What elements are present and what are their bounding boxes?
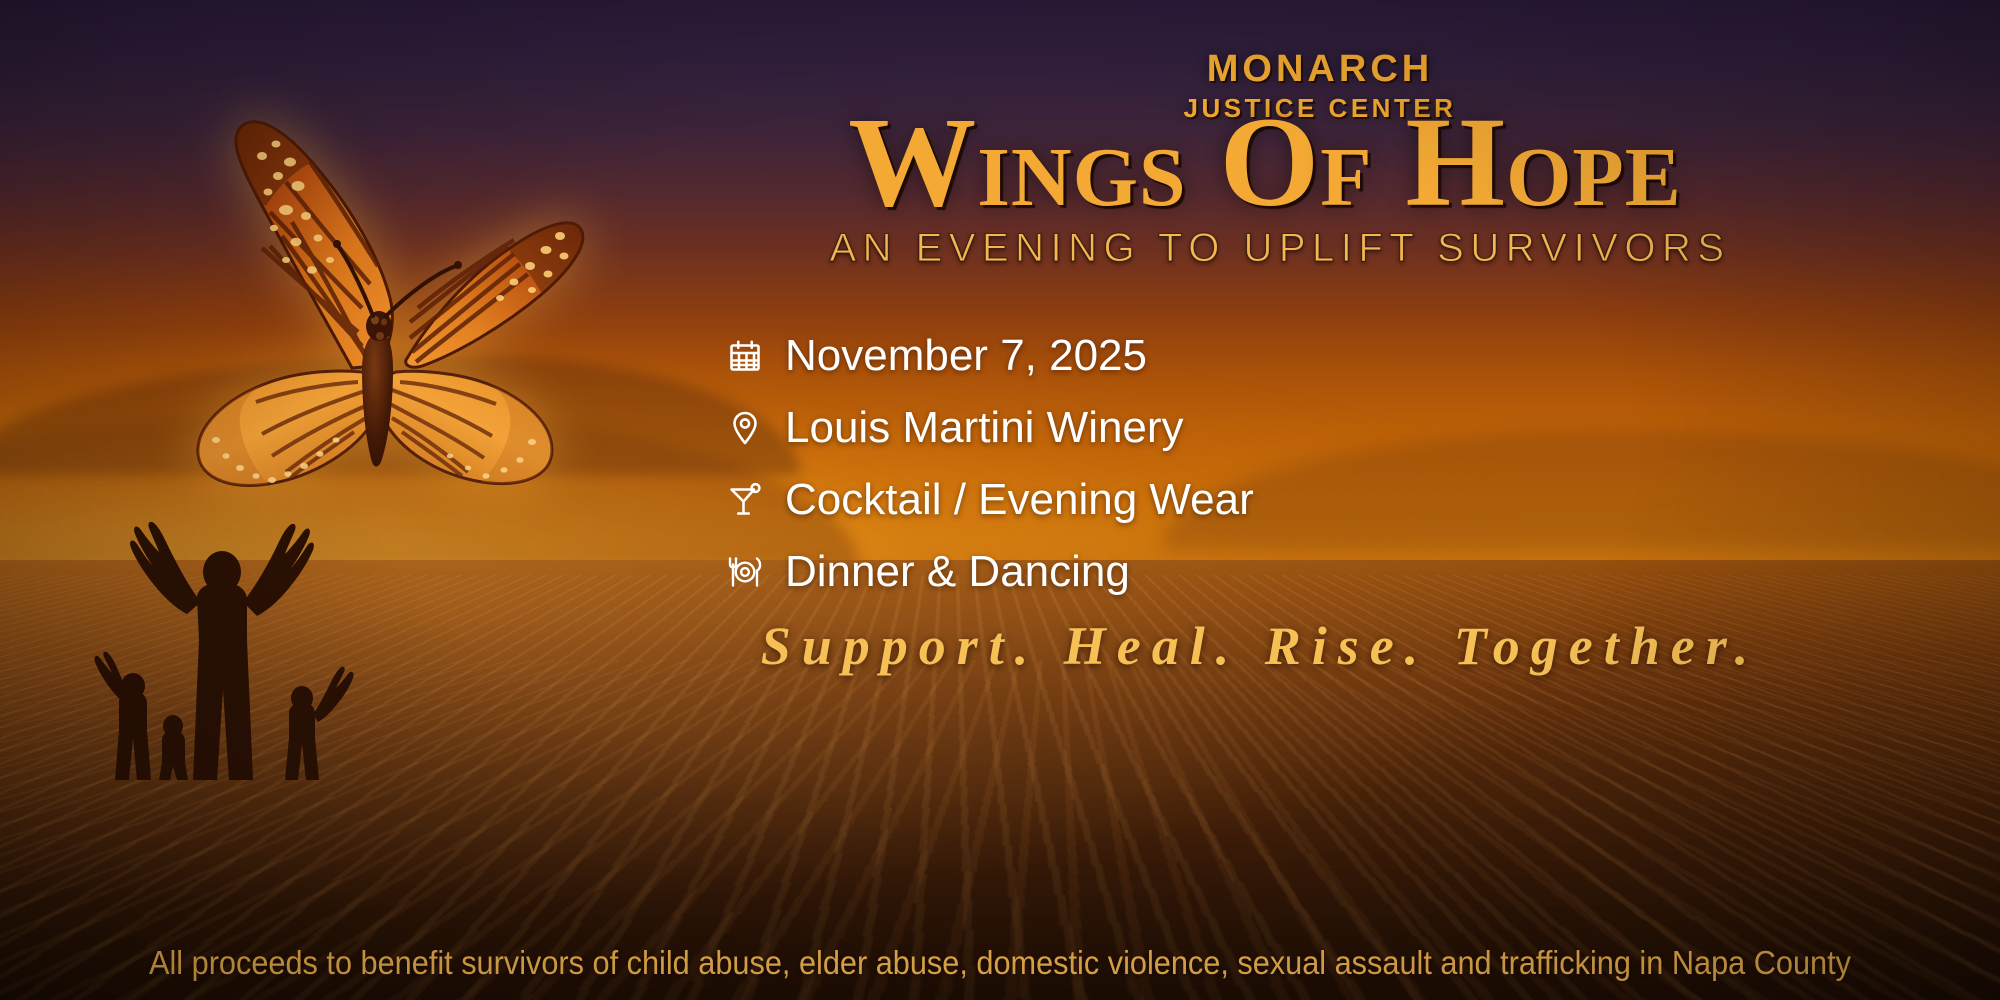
dinner-plate-utensils-icon — [725, 552, 765, 592]
poster-content: MONARCH JUSTICE CENTER WINGS OF HOPE AN … — [640, 0, 2000, 1000]
detail-label-date: November 7, 2025 — [785, 334, 1147, 378]
footnote-container: All proceeds to benefit survivors of chi… — [0, 920, 2000, 1000]
detail-row-program: Dinner & Dancing — [725, 536, 1425, 608]
title-o: O — [1220, 91, 1321, 233]
beneficiary-footnote: All proceeds to benefit survivors of chi… — [70, 944, 1930, 982]
event-poster: MONARCH JUSTICE CENTER WINGS OF HOPE AN … — [0, 0, 2000, 1000]
title-f: F — [1320, 131, 1372, 224]
detail-label-program: Dinner & Dancing — [785, 550, 1130, 594]
calendar-icon — [725, 336, 765, 376]
title-ope: OPE — [1506, 131, 1682, 224]
cocktail-glass-icon — [725, 480, 765, 520]
event-subtitle: AN EVENING TO UPLIFT SURVIVORS — [560, 226, 2000, 271]
raised-arms-silhouettes — [85, 490, 365, 780]
page-title: WINGS OF HOPE — [520, 98, 2000, 226]
event-slogan: Support. Heal. Rise. Together. — [480, 615, 2000, 677]
detail-row-date: November 7, 2025 — [725, 320, 1425, 392]
title-ings: INGS — [977, 131, 1186, 224]
event-details-list: November 7, 2025 Louis Martini Winery — [725, 320, 1425, 608]
detail-label-venue: Louis Martini Winery — [785, 406, 1184, 450]
title-h: H — [1406, 91, 1507, 233]
detail-label-attire: Cocktail / Evening Wear — [785, 478, 1254, 522]
detail-row-venue: Louis Martini Winery — [725, 392, 1425, 464]
detail-row-attire: Cocktail / Evening Wear — [725, 464, 1425, 536]
title-w: W — [848, 91, 977, 233]
org-name-line1: MONARCH — [640, 50, 2000, 88]
location-pin-icon — [725, 408, 765, 448]
